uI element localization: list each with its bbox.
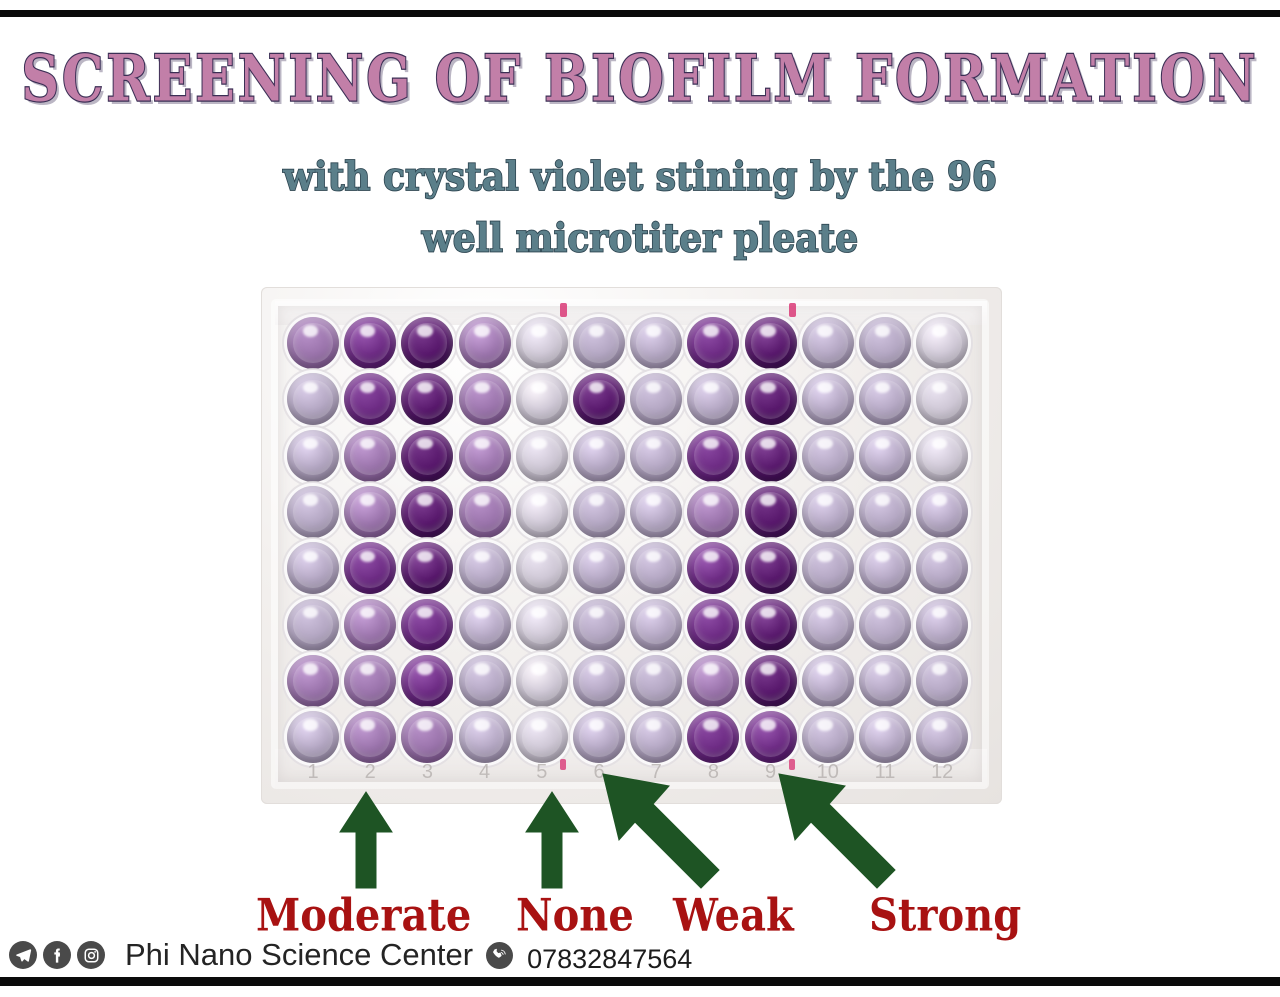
- well-C10: [802, 430, 854, 482]
- top-rule: [0, 10, 1280, 17]
- well-B7: [630, 373, 682, 425]
- well-A8: [687, 317, 739, 369]
- well-E7: [630, 542, 682, 594]
- well-G12: [916, 655, 968, 707]
- well-A9: [745, 317, 797, 369]
- page-subtitle: with crystal violet stining by the 96 we…: [0, 146, 1280, 269]
- column-number-3: 3: [407, 761, 447, 784]
- well-B12: [916, 373, 968, 425]
- well-H6: [573, 711, 625, 763]
- well-D8: [687, 486, 739, 538]
- well-C2: [344, 430, 396, 482]
- well-C5: [516, 430, 568, 482]
- well-E4: [459, 542, 511, 594]
- well-D9: [745, 486, 797, 538]
- well-E6: [573, 542, 625, 594]
- well-F9: [745, 599, 797, 651]
- well-F8: [687, 599, 739, 651]
- well-grid: [287, 317, 979, 767]
- well-B3: [401, 373, 453, 425]
- well-G3: [401, 655, 453, 707]
- subtitle-line-1: with crystal violet stining by the 96: [0, 146, 1280, 208]
- well-A12: [916, 317, 968, 369]
- well-G11: [859, 655, 911, 707]
- well-G5: [516, 655, 568, 707]
- arrow-strong: [773, 768, 903, 893]
- column-number-5: 5: [522, 761, 562, 784]
- well-E9: [745, 542, 797, 594]
- well-F5: [516, 599, 568, 651]
- well-C8: [687, 430, 739, 482]
- well-H12: [916, 711, 968, 763]
- well-B2: [344, 373, 396, 425]
- well-F4: [459, 599, 511, 651]
- well-H7: [630, 711, 682, 763]
- well-E8: [687, 542, 739, 594]
- well-C12: [916, 430, 968, 482]
- well-G8: [687, 655, 739, 707]
- well-A10: [802, 317, 854, 369]
- well-H1: [287, 711, 339, 763]
- well-A11: [859, 317, 911, 369]
- well-C9: [745, 430, 797, 482]
- well-C7: [630, 430, 682, 482]
- column-number-1: 1: [293, 761, 333, 784]
- well-F2: [344, 599, 396, 651]
- well-B11: [859, 373, 911, 425]
- microtiter-plate-image: 123456789101112: [261, 287, 1002, 804]
- well-H9: [745, 711, 797, 763]
- well-B6: [573, 373, 625, 425]
- well-C6: [573, 430, 625, 482]
- page-title: SCREENING OF BIOFILM FORMATION: [0, 42, 1280, 116]
- well-H11: [859, 711, 911, 763]
- well-D1: [287, 486, 339, 538]
- well-G9: [745, 655, 797, 707]
- telegram-icon[interactable]: [9, 941, 37, 969]
- column-number-2: 2: [350, 761, 390, 784]
- well-F10: [802, 599, 854, 651]
- well-D7: [630, 486, 682, 538]
- well-E2: [344, 542, 396, 594]
- well-D6: [573, 486, 625, 538]
- footer-bar: Phi Nano Science Center 07832847564: [0, 932, 1280, 978]
- well-A4: [459, 317, 511, 369]
- well-A2: [344, 317, 396, 369]
- brand-name: Phi Nano Science Center: [125, 937, 473, 973]
- well-F6: [573, 599, 625, 651]
- well-H10: [802, 711, 854, 763]
- well-E12: [916, 542, 968, 594]
- well-E3: [401, 542, 453, 594]
- well-C4: [459, 430, 511, 482]
- well-B9: [745, 373, 797, 425]
- well-B4: [459, 373, 511, 425]
- well-G7: [630, 655, 682, 707]
- well-E1: [287, 542, 339, 594]
- bottom-rule: [0, 977, 1280, 986]
- well-G1: [287, 655, 339, 707]
- well-D2: [344, 486, 396, 538]
- arrow-moderate: [336, 790, 396, 890]
- phone-icon[interactable]: [486, 942, 513, 969]
- column-number-4: 4: [465, 761, 505, 784]
- phone-number: 07832847564: [527, 944, 692, 975]
- well-F11: [859, 599, 911, 651]
- well-C11: [859, 430, 911, 482]
- subtitle-line-2: well microtiter pleate: [0, 208, 1280, 270]
- well-E10: [802, 542, 854, 594]
- well-F12: [916, 599, 968, 651]
- well-F1: [287, 599, 339, 651]
- well-H5: [516, 711, 568, 763]
- well-E11: [859, 542, 911, 594]
- well-H8: [687, 711, 739, 763]
- well-G2: [344, 655, 396, 707]
- column-number-12: 12: [922, 761, 962, 784]
- well-G10: [802, 655, 854, 707]
- slide-canvas: SCREENING OF BIOFILM FORMATION with crys…: [0, 0, 1280, 997]
- well-G4: [459, 655, 511, 707]
- well-D12: [916, 486, 968, 538]
- well-E5: [516, 542, 568, 594]
- well-B8: [687, 373, 739, 425]
- well-C1: [287, 430, 339, 482]
- well-D5: [516, 486, 568, 538]
- arrow-none: [522, 790, 582, 890]
- well-A5: [516, 317, 568, 369]
- well-C3: [401, 430, 453, 482]
- well-A6: [573, 317, 625, 369]
- well-B5: [516, 373, 568, 425]
- well-D11: [859, 486, 911, 538]
- facebook-icon[interactable]: [43, 941, 71, 969]
- instagram-icon[interactable]: [77, 941, 105, 969]
- arrow-weak: [597, 768, 727, 893]
- well-A7: [630, 317, 682, 369]
- well-D10: [802, 486, 854, 538]
- well-A3: [401, 317, 453, 369]
- well-G6: [573, 655, 625, 707]
- well-F7: [630, 599, 682, 651]
- rim-mark-top-9: [789, 303, 796, 317]
- rim-mark-top-5: [560, 303, 567, 317]
- well-D4: [459, 486, 511, 538]
- well-D3: [401, 486, 453, 538]
- well-A1: [287, 317, 339, 369]
- well-H4: [459, 711, 511, 763]
- well-B1: [287, 373, 339, 425]
- well-B10: [802, 373, 854, 425]
- well-H2: [344, 711, 396, 763]
- well-H3: [401, 711, 453, 763]
- well-F3: [401, 599, 453, 651]
